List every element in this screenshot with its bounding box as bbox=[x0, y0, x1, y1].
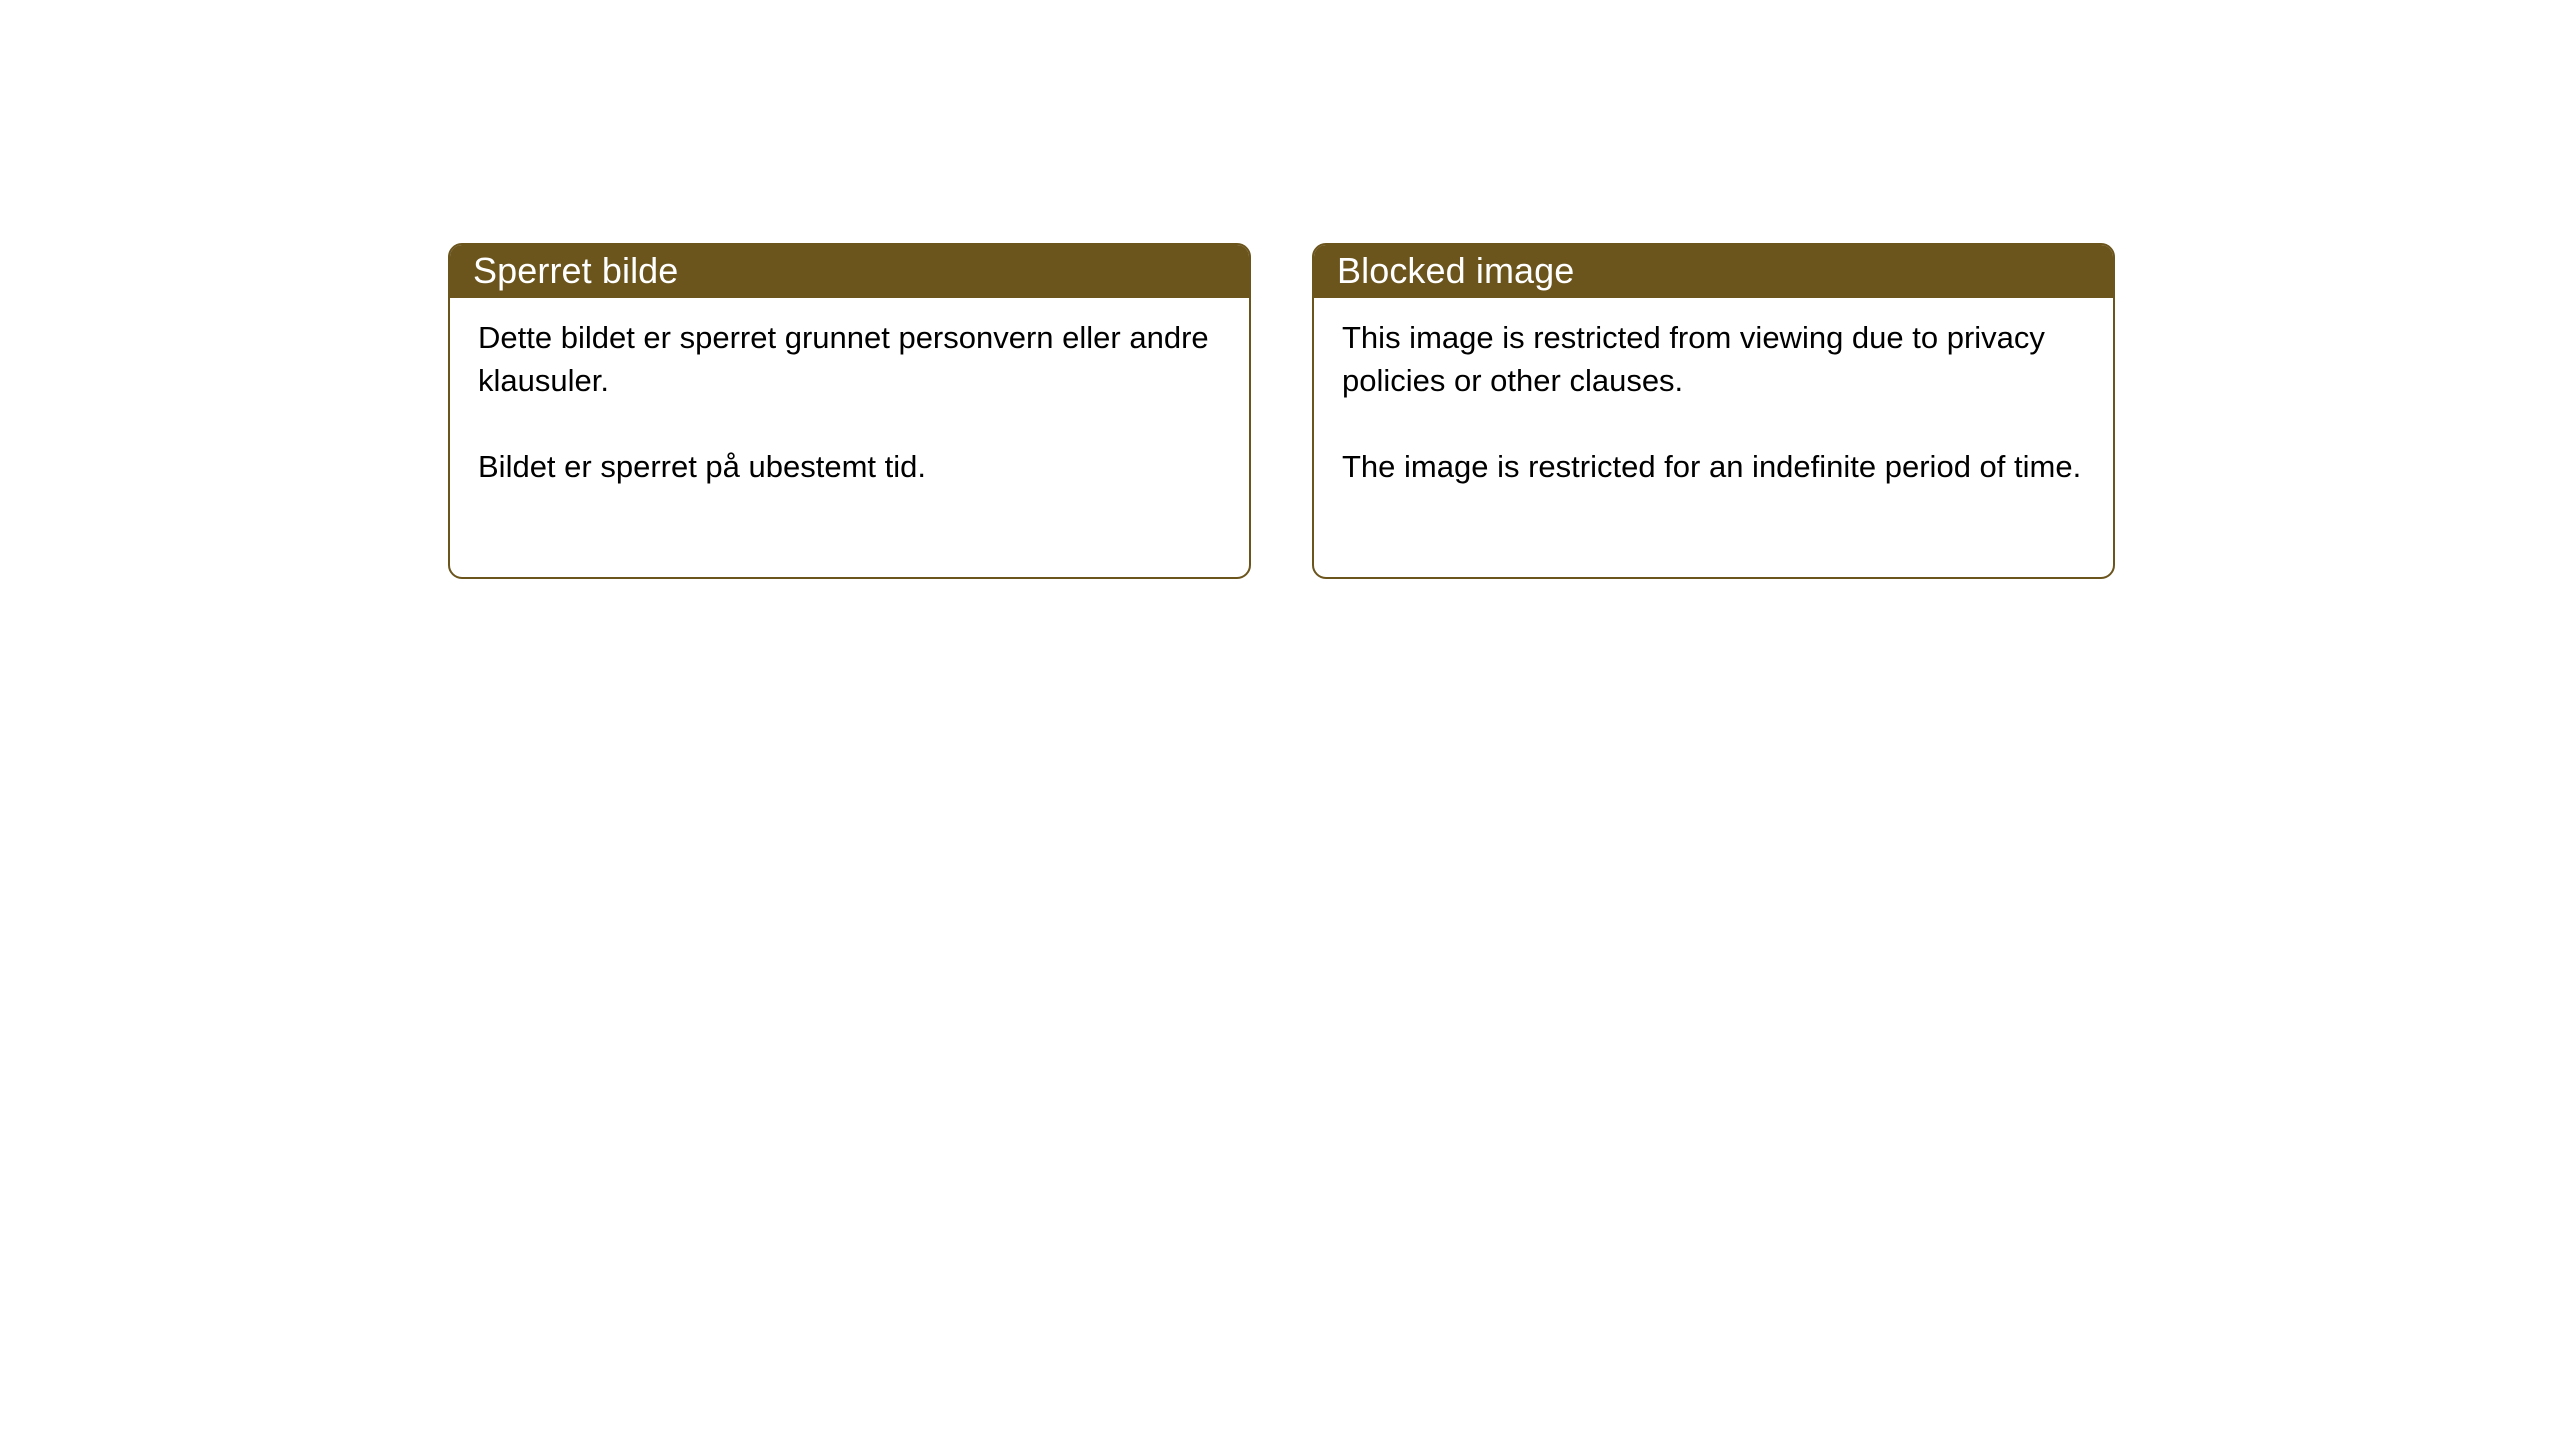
card-title-norwegian: Sperret bilde bbox=[473, 251, 678, 291]
card-paragraph-norwegian-1: Dette bildet er sperret grunnet personve… bbox=[478, 316, 1223, 402]
blocked-image-card-english: Blocked image This image is restricted f… bbox=[1312, 243, 2115, 579]
card-paragraph-norwegian-2: Bildet er sperret på ubestemt tid. bbox=[478, 445, 1223, 488]
card-header-norwegian: Sperret bilde bbox=[448, 243, 1251, 298]
card-paragraph-english-1: This image is restricted from viewing du… bbox=[1342, 316, 2087, 402]
blocked-image-card-norwegian: Sperret bilde Dette bildet er sperret gr… bbox=[448, 243, 1251, 579]
card-body-norwegian: Dette bildet er sperret grunnet personve… bbox=[450, 298, 1249, 488]
card-title-english: Blocked image bbox=[1337, 251, 1574, 291]
blocked-image-notice-area: Sperret bilde Dette bildet er sperret gr… bbox=[0, 0, 2560, 1440]
card-header-english: Blocked image bbox=[1312, 243, 2115, 298]
card-body-english: This image is restricted from viewing du… bbox=[1314, 298, 2113, 488]
card-paragraph-english-2: The image is restricted for an indefinit… bbox=[1342, 445, 2087, 488]
